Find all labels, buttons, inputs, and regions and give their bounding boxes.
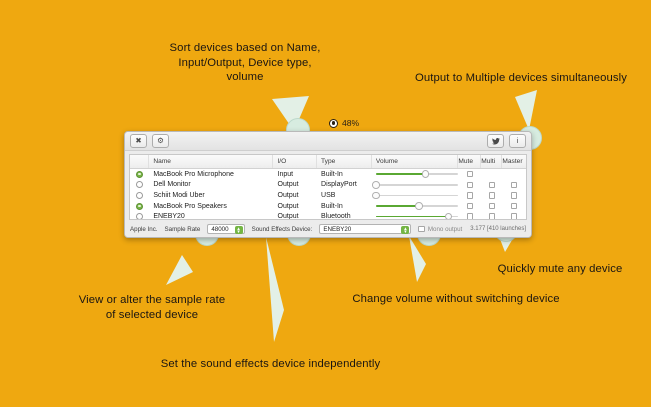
mute-checkbox[interactable] — [458, 180, 481, 191]
device-select-radio[interactable] — [130, 169, 149, 180]
device-io: Input — [274, 169, 317, 180]
chevron-updown-icon[interactable]: ▲▼ — [401, 226, 409, 234]
column-header-io[interactable]: I/O — [273, 155, 317, 168]
system-volume-indicator: 48% — [329, 118, 359, 128]
checkbox-box-icon — [418, 226, 424, 232]
device-table: Name I/O Type Volume Mute Multi Master M… — [129, 154, 527, 220]
device-io: Output — [274, 180, 317, 191]
column-header-name[interactable]: Name — [149, 155, 273, 168]
device-select-radio[interactable] — [130, 190, 149, 201]
mono-output-checkbox[interactable]: Mono output — [418, 226, 462, 233]
device-io: Output — [274, 190, 317, 201]
sound-control-window: ✖ ⚙ i Name I/O Type Volume Mute — [124, 131, 532, 238]
annotation-sort: Sort devices based on Name, Input/Output… — [145, 41, 345, 85]
info-icon[interactable]: i — [509, 134, 526, 148]
volume-slider[interactable] — [376, 212, 459, 220]
checkbox-box-icon — [511, 182, 517, 188]
table-row[interactable]: ENEBY20OutputBluetooth — [130, 211, 526, 220]
master-checkbox[interactable] — [502, 211, 526, 220]
radio-unselected-icon — [136, 181, 143, 188]
checkbox-box-icon — [467, 203, 473, 209]
multi-checkbox[interactable] — [481, 201, 502, 212]
radio-selected-icon — [136, 203, 143, 210]
device-io: Output — [274, 201, 317, 212]
mute-checkbox[interactable] — [458, 190, 481, 201]
close-icon[interactable]: ✖ — [130, 134, 147, 148]
multi-checkbox[interactable] — [481, 190, 502, 201]
sound-effects-device-select[interactable]: ENEBY20 ▲▼ — [319, 224, 411, 234]
checkbox-box-icon — [467, 213, 473, 219]
checkbox-box-icon — [489, 213, 495, 219]
slider-track — [376, 184, 459, 186]
device-type: USB — [317, 190, 372, 201]
device-type: Bluetooth — [317, 211, 372, 220]
device-type: DisplayPort — [317, 180, 372, 191]
device-name: ENEBY20 — [149, 211, 273, 220]
checkbox-box-icon — [489, 192, 495, 198]
stepper-arrows-icon[interactable]: ▲▼ — [235, 226, 243, 234]
volume-slider[interactable] — [376, 180, 459, 189]
checkbox-box-icon — [489, 203, 495, 209]
table-row[interactable]: MacBook Pro SpeakersOutputBuilt-In — [130, 201, 526, 212]
column-header-master[interactable]: Master — [502, 155, 526, 168]
annotation-sound-effects: Set the sound effects device independent… — [133, 357, 408, 372]
slider-knob[interactable] — [415, 202, 423, 210]
annotation-sample-rate: View or alter the sample rate of selecte… — [52, 293, 252, 322]
device-name: Schiit Modi Uber — [149, 190, 273, 201]
master-checkbox[interactable] — [502, 190, 526, 201]
column-header-type[interactable]: Type — [317, 155, 372, 168]
table-row[interactable]: Dell MonitorOutputDisplayPort — [130, 180, 526, 191]
radio-selected-icon — [136, 171, 143, 178]
sample-rate-value: 48000 — [211, 226, 228, 233]
device-type: Built-In — [317, 169, 372, 180]
volume-cell[interactable] — [372, 190, 459, 201]
mute-checkbox[interactable] — [458, 169, 481, 180]
device-select-radio[interactable] — [130, 180, 149, 191]
column-header-volume[interactable]: Volume — [372, 155, 458, 168]
slider-knob[interactable] — [422, 170, 430, 178]
slider-knob[interactable] — [372, 181, 380, 189]
titlebar-right-tools: i — [482, 134, 526, 148]
device-type: Built-In — [317, 201, 372, 212]
slider-fill — [376, 216, 449, 218]
table-header-row: Name I/O Type Volume Mute Multi Master — [130, 155, 526, 169]
system-volume-value: 48% — [342, 118, 359, 128]
column-header-mute[interactable]: Mute — [458, 155, 481, 168]
slider-knob[interactable] — [372, 192, 380, 200]
annotation-multi-output: Output to Multiple devices simultaneousl… — [396, 71, 646, 86]
checkbox-box-icon — [489, 182, 495, 188]
radio-unselected-icon — [136, 192, 143, 199]
screenshot-stage: Sort devices based on Name, Input/Output… — [0, 0, 651, 407]
multi-checkbox[interactable] — [481, 180, 502, 191]
window-titlebar: ✖ ⚙ i — [125, 132, 531, 151]
radio-dot-icon — [329, 119, 338, 128]
volume-cell[interactable] — [372, 201, 459, 212]
volume-slider[interactable] — [376, 202, 459, 211]
table-row[interactable]: MacBook Pro MicrophoneInputBuilt-In — [130, 169, 526, 180]
mute-checkbox[interactable] — [458, 201, 481, 212]
checkbox-box-icon — [467, 182, 473, 188]
device-select-radio[interactable] — [130, 211, 149, 220]
window-bottom-bar: Apple Inc. Sample Rate 48000 ▲▼ Sound Ef… — [125, 221, 531, 237]
volume-cell[interactable] — [372, 180, 459, 191]
gear-icon[interactable]: ⚙ — [152, 134, 169, 148]
multi-checkbox — [481, 169, 502, 180]
sample-rate-label: Sample Rate — [165, 226, 201, 233]
radio-unselected-icon — [136, 213, 143, 220]
device-io: Output — [274, 211, 317, 220]
master-checkbox[interactable] — [502, 201, 526, 212]
sound-effects-label: Sound Effects Device: — [252, 226, 313, 233]
column-header-multi[interactable]: Multi — [481, 155, 502, 168]
master-checkbox[interactable] — [502, 180, 526, 191]
annotation-mute: Quickly mute any device — [478, 262, 642, 277]
table-row[interactable]: Schiit Modi UberOutputUSB — [130, 190, 526, 201]
mute-checkbox[interactable] — [458, 211, 481, 220]
annotation-volume: Change volume without switching device — [327, 292, 585, 307]
table-body: MacBook Pro MicrophoneInputBuilt-InDell … — [130, 169, 526, 220]
volume-slider[interactable] — [376, 170, 459, 179]
sound-effects-value: ENEBY20 — [323, 226, 351, 233]
device-name: MacBook Pro Speakers — [149, 201, 273, 212]
checkbox-box-icon — [511, 203, 517, 209]
device-name: MacBook Pro Microphone — [149, 169, 273, 180]
twitter-bird-icon[interactable] — [487, 134, 504, 148]
checkbox-box-icon — [467, 171, 473, 177]
volume-cell[interactable] — [372, 211, 459, 220]
checkbox-box-icon — [467, 192, 473, 198]
master-checkbox — [502, 169, 526, 180]
slider-track — [376, 195, 459, 197]
version-label: 3.177 [410 launches] — [470, 226, 526, 232]
device-name: Dell Monitor — [149, 180, 273, 191]
mono-output-label: Mono output — [428, 226, 462, 233]
manufacturer-label: Apple Inc. — [130, 226, 158, 233]
slider-fill — [376, 173, 426, 175]
device-select-radio[interactable] — [130, 201, 149, 212]
slider-knob[interactable] — [445, 213, 453, 220]
volume-slider[interactable] — [376, 191, 459, 200]
multi-checkbox[interactable] — [481, 211, 502, 220]
sample-rate-stepper[interactable]: 48000 ▲▼ — [207, 224, 244, 234]
checkbox-box-icon — [511, 192, 517, 198]
checkbox-box-icon — [511, 213, 517, 219]
volume-cell[interactable] — [372, 169, 459, 180]
slider-fill — [376, 205, 419, 207]
column-header-select[interactable] — [130, 155, 149, 168]
